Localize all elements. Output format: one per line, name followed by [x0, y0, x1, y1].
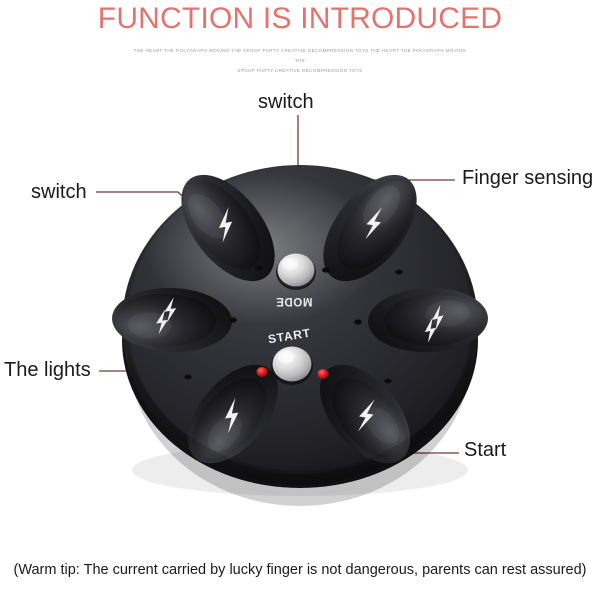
finger-pad[interactable]: [163, 158, 293, 298]
device-illustration: MODE START: [0, 0, 600, 590]
mode-button-label: MODE: [276, 295, 313, 307]
subtitle-line-1: THE HEART THE POLYGRAPH MOVING THE SPOOF…: [128, 46, 472, 66]
lightning-bolt-icon: [154, 309, 169, 334]
lightning-bolt-icon: [163, 297, 178, 322]
start-button[interactable]: [271, 347, 313, 386]
callout-label-finger-sensing: Finger sensing: [462, 168, 593, 188]
screw-hole: [255, 265, 263, 270]
start-button-label: START: [267, 326, 312, 347]
lightning-bolt-icon: [364, 205, 383, 241]
finger-pad-group: [111, 158, 489, 479]
screw-hole-group: [184, 265, 402, 383]
lightning-bolt-icon: [430, 305, 447, 331]
finger-pad[interactable]: [367, 286, 489, 354]
warm-tip-note: (Warm tip: The current carried by lucky …: [0, 562, 600, 578]
leader-line-start: [310, 372, 459, 453]
page-subtitle: THE HEART THE POLYGRAPH MOVING THE SPOOF…: [128, 46, 472, 76]
screw-hole: [395, 270, 402, 275]
lightning-bolt-icon: [357, 398, 376, 434]
svg-text:MODE: MODE: [276, 295, 313, 307]
led-light: [257, 367, 268, 377]
mode-button[interactable]: [276, 254, 316, 291]
subtitle-line-2: SPOOF PARTY CREATIVE DECOMPRESSION TOYS: [128, 66, 472, 76]
lightning-bolt-icon: [216, 207, 236, 243]
leader-lines: [96, 115, 459, 453]
leader-line-switch-left: [96, 192, 262, 268]
leader-line-finger-sensing: [348, 180, 455, 192]
callout-label-start: Start: [464, 440, 506, 460]
callout-label-switch-top: switch: [258, 92, 314, 112]
poster-page: FUNCTION IS INTRODUCED THE HEART THE POL…: [0, 0, 600, 590]
lightning-bolt-icon: [422, 317, 439, 343]
screw-hole: [184, 375, 191, 380]
device-body: [122, 165, 478, 496]
finger-pad[interactable]: [170, 348, 295, 479]
led-light-group: [257, 367, 329, 379]
finger-pad[interactable]: [302, 348, 427, 479]
svg-text:START: START: [267, 326, 312, 347]
finger-pad[interactable]: [111, 286, 233, 354]
screw-hole: [229, 317, 237, 322]
device-graphic: MODE START: [0, 0, 600, 590]
callout-label-the-lights: The lights: [4, 360, 91, 380]
page-title: FUNCTION IS INTRODUCED: [0, 2, 600, 36]
device-edge-shading: [128, 352, 472, 506]
screw-hole: [354, 319, 362, 324]
screw-hole: [384, 379, 391, 384]
callout-label-switch-left: switch: [31, 182, 87, 202]
finger-pad[interactable]: [305, 158, 435, 298]
screw-hole: [322, 267, 330, 272]
led-light: [318, 369, 329, 379]
lightning-bolt-icon: [222, 398, 241, 434]
